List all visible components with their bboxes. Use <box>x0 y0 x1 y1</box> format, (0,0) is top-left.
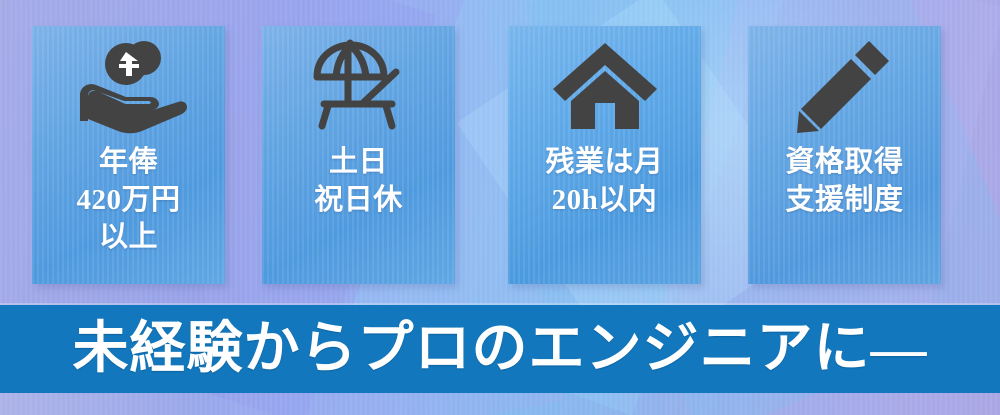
benefit-card-salary: 年俸 420万円 以上 <box>32 26 225 284</box>
benefit-card-text: 土日 祝日休 <box>310 144 407 219</box>
headline-bar: 未経験からプロのエンジニアに― <box>0 305 1000 393</box>
benefit-card-text: 資格取得 支援制度 <box>781 144 907 219</box>
benefit-card-list: 年俸 420万円 以上 <box>0 0 1000 300</box>
benefit-card-line: 資格取得 <box>785 144 903 182</box>
benefit-card-certification: 資格取得 支援制度 <box>748 26 941 284</box>
beach-parasol-lounge-chair-icon <box>262 26 455 144</box>
benefit-card-line: 支援制度 <box>785 182 903 220</box>
benefit-card-line: 残業は月 <box>545 144 663 182</box>
benefit-card-line: 20h以内 <box>545 182 663 220</box>
benefit-card-holidays: 土日 祝日休 <box>262 26 455 284</box>
benefit-card-line: 年俸 <box>76 144 180 182</box>
benefit-card-line: 祝日休 <box>314 182 403 220</box>
benefit-card-line: 土日 <box>314 144 403 182</box>
benefit-card-line: 420万円 <box>76 182 180 220</box>
job-ad-banner: 年俸 420万円 以上 <box>0 0 1000 415</box>
benefit-card-overtime: 残業は月 20h以内 <box>508 26 701 284</box>
benefit-card-line: 以上 <box>76 219 180 257</box>
benefit-card-text: 年俸 420万円 以上 <box>72 144 184 257</box>
benefit-card-text: 残業は月 20h以内 <box>541 144 667 219</box>
pencil-icon <box>748 26 941 144</box>
hand-holding-yen-coin-icon <box>32 26 225 144</box>
headline-text: 未経験からプロのエンジニアに― <box>73 321 928 377</box>
house-icon <box>508 26 701 144</box>
